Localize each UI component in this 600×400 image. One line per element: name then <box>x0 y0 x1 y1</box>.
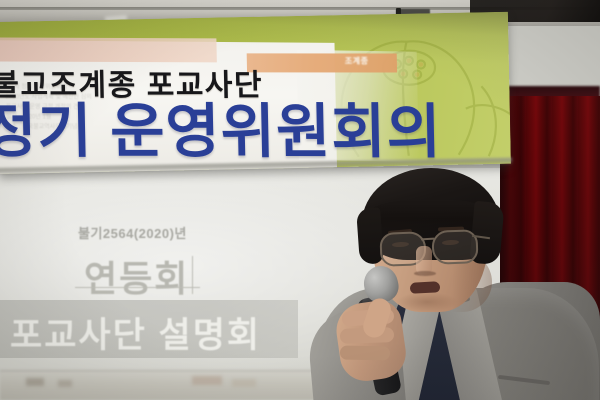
slide-year-label: 불기2564(2020)년 <box>78 223 187 242</box>
slide-photo-blob <box>26 378 44 386</box>
slide-underline-rule <box>75 287 200 288</box>
slide-vertical-rule <box>192 256 193 294</box>
chin-shadow <box>396 292 458 312</box>
slide-photo-blob <box>232 379 256 387</box>
slide-background-photo <box>0 372 340 400</box>
photo-scene: 불기2564(2020)년 연등회 포교사단 설명회 <box>0 0 600 400</box>
slide-photo-blob <box>192 376 222 385</box>
banner-orange-tag-text: 조계종 <box>345 55 397 64</box>
banner-title-text: 정기 운영위원회의 <box>0 99 453 164</box>
speaker-person <box>300 170 600 400</box>
slide-main-title: 연등회 <box>84 250 189 302</box>
nostrils <box>414 271 436 276</box>
finger <box>340 346 390 361</box>
slide-subtitle-text: 포교사단 설명회 <box>10 307 261 358</box>
banner-pink-stripe <box>0 37 217 62</box>
slide-photo-blob <box>58 380 72 387</box>
event-banner: 조계종 제1차 정기 운영위원회의 2020년도 사업계획 및 예산안 심의 포… <box>0 12 511 174</box>
